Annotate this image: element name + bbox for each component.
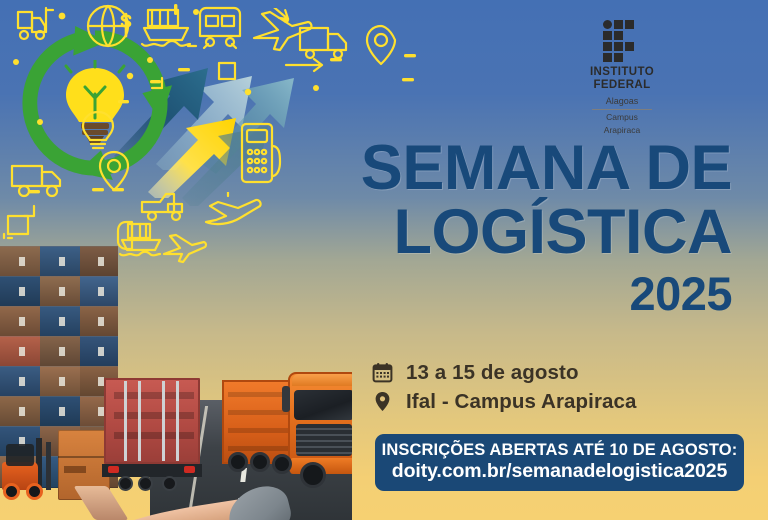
calendar-icon xyxy=(372,362,393,383)
airplane-tail xyxy=(73,486,128,520)
logo-line-instituto: INSTITUTO xyxy=(563,67,681,79)
event-details: 13 a 15 de agosto Ifal - Campus Arapirac… xyxy=(372,358,752,416)
forklift-mast-rail xyxy=(46,442,51,490)
title-line-2: LOGÍSTICA xyxy=(262,200,732,264)
event-location-text: Ifal - Campus Arapiraca xyxy=(406,390,637,414)
instituto-federal-grid-mark xyxy=(603,20,641,62)
cargo-airplane xyxy=(60,480,300,520)
registration-url[interactable]: doity.com.br/semanadelogistica2025 xyxy=(375,460,744,483)
ifal-logo: INSTITUTO FEDERAL Alagoas Campus Arapira… xyxy=(563,20,681,120)
title-line-1: SEMANA DE xyxy=(262,136,732,200)
detail-row-date: 13 a 15 de agosto xyxy=(372,358,752,387)
truck-windshield xyxy=(294,390,352,420)
truck-cabin xyxy=(288,372,352,472)
logo-line-campus: Campus xyxy=(563,112,681,123)
forklift-wheel xyxy=(3,483,20,500)
detail-row-location: Ifal - Campus Arapiraca xyxy=(372,387,752,416)
event-title: SEMANA DE LOGÍSTICA 2025 xyxy=(262,136,732,320)
truck-grille xyxy=(296,424,352,456)
forklift-cab xyxy=(6,444,34,466)
logo-line-federal: FEDERAL xyxy=(563,79,681,92)
forklift-wheel xyxy=(26,483,43,500)
red-container-trailer xyxy=(104,378,200,490)
logo-line-alagoas: Alagoas xyxy=(592,95,653,110)
orange-forklift xyxy=(2,438,62,500)
title-year: 2025 xyxy=(262,268,732,320)
event-date-text: 13 a 15 de agosto xyxy=(406,361,579,385)
location-pin-icon xyxy=(372,391,393,412)
registration-headline: INSCRIÇÕES ABERTAS ATÉ 10 DE AGOSTO: xyxy=(375,440,744,460)
red-container-body xyxy=(104,378,200,464)
poster-canvas: INSTITUTO FEDERAL Alagoas Campus Arapira… xyxy=(0,0,768,520)
registration-banner[interactable]: INSCRIÇÕES ABERTAS ATÉ 10 DE AGOSTO: doi… xyxy=(375,434,744,491)
truck-sun-visor xyxy=(292,374,352,386)
